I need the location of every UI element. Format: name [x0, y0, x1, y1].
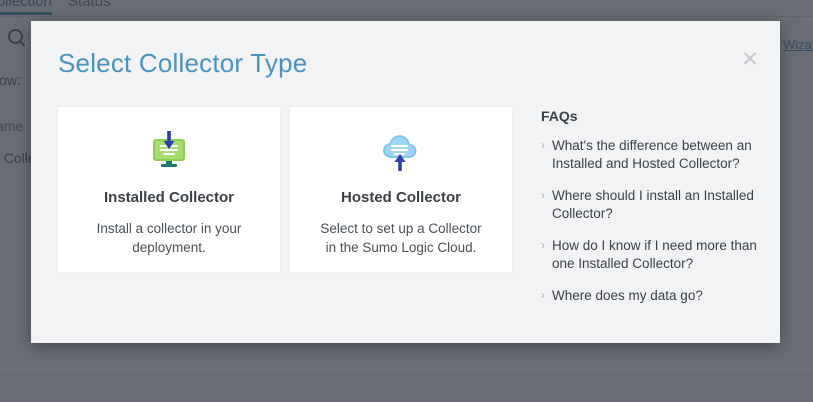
faq-item-how-many[interactable]: › How do I know if I need more than one …: [541, 237, 758, 273]
dialog-title: Select Collector Type: [58, 48, 307, 79]
dialog-body: Installed Collector Install a collector …: [57, 106, 758, 319]
select-collector-type-dialog: ✕ Select Collector Type: [31, 21, 780, 343]
chevron-right-icon: ›: [541, 237, 545, 254]
faq-item-label: How do I know if I need more than one In…: [552, 237, 758, 273]
hosted-collector-cloud-icon: [378, 129, 424, 175]
chevron-right-icon: ›: [541, 187, 545, 204]
faq-item-label: What's the difference between an Install…: [552, 137, 758, 173]
faq-item-difference[interactable]: › What's the difference between an Insta…: [541, 137, 758, 173]
installed-collector-monitor-icon: [146, 129, 192, 175]
collector-type-cards: Installed Collector Install a collector …: [57, 106, 513, 273]
card-hosted-collector-title: Hosted Collector: [341, 189, 461, 206]
faq-item-label: Where does my data go?: [552, 287, 703, 305]
faq-panel: FAQs › What's the difference between an …: [541, 106, 758, 319]
faq-item-where-install[interactable]: › Where should I install an Installed Co…: [541, 187, 758, 223]
card-installed-collector-description: Install a collector in your deployment.: [58, 219, 280, 257]
card-installed-collector[interactable]: Installed Collector Install a collector …: [57, 106, 281, 273]
card-hosted-collector[interactable]: Hosted Collector Select to set up a Coll…: [289, 106, 513, 273]
faq-item-label: Where should I install an Installed Coll…: [552, 187, 758, 223]
chevron-right-icon: ›: [541, 137, 545, 154]
close-icon[interactable]: ✕: [739, 50, 761, 72]
card-hosted-collector-description: Select to set up a Collector in the Sumo…: [290, 219, 512, 257]
faq-item-data-destination[interactable]: › Where does my data go?: [541, 287, 758, 305]
chevron-right-icon: ›: [541, 287, 545, 304]
faq-heading: FAQs: [541, 108, 758, 124]
card-installed-collector-title: Installed Collector: [104, 189, 234, 206]
